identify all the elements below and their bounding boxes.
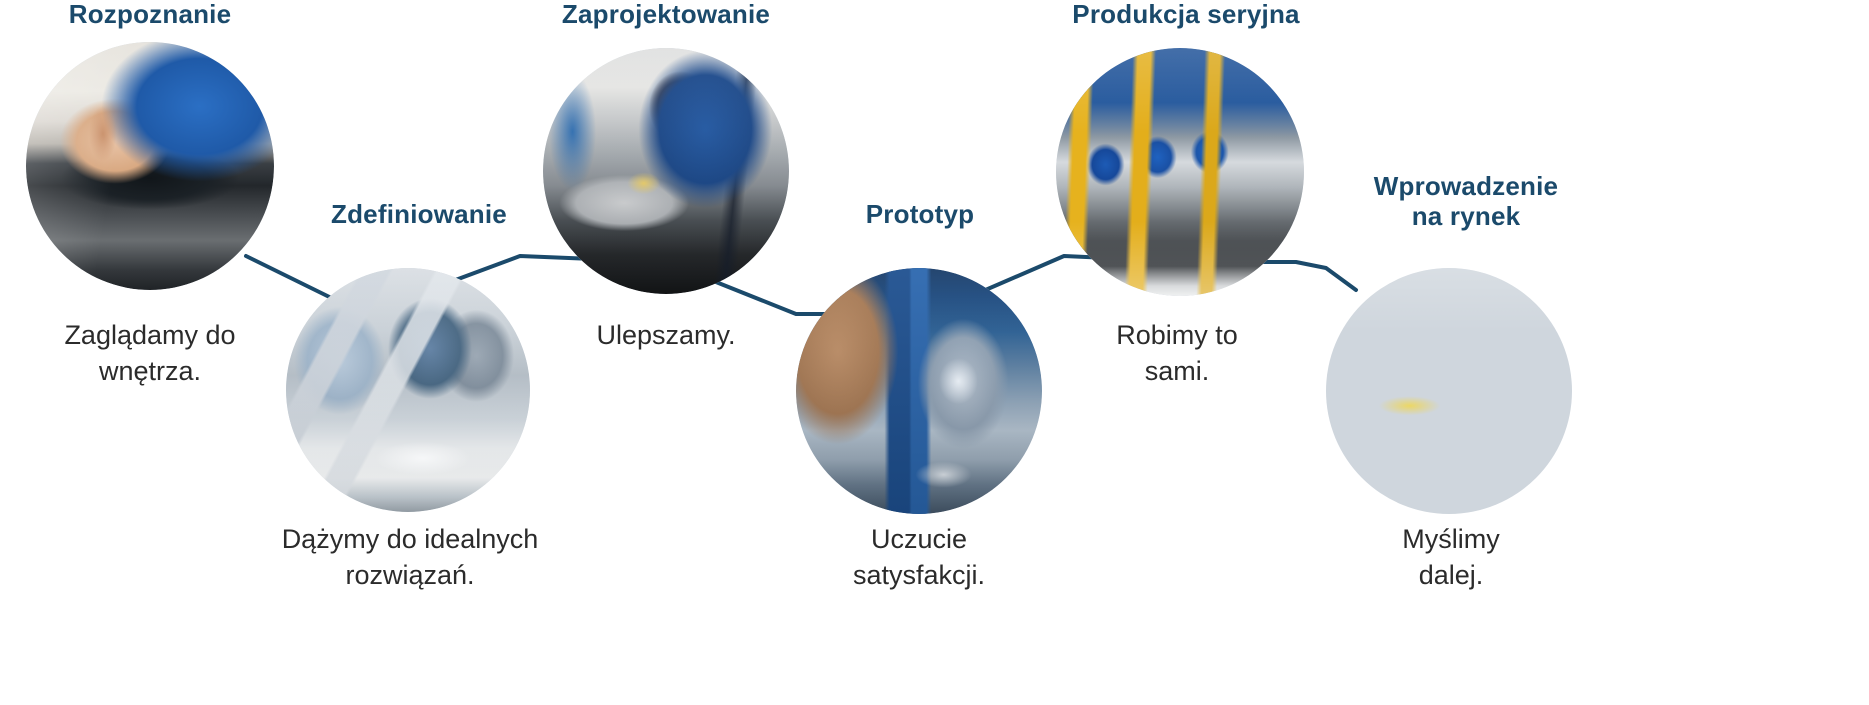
team-reviewing-blueprints-photo bbox=[286, 268, 530, 512]
step-caption-prototyp: Uczucie satysfakcji. bbox=[784, 522, 1054, 594]
step-title-zdefiniowanie: Zdefiniowanie bbox=[275, 200, 563, 230]
step-image-rozpoznanie[interactable] bbox=[26, 42, 274, 290]
cad-workstation-prototype-photo bbox=[796, 268, 1042, 514]
step-title-zaprojektowanie: Zaprojektowanie bbox=[520, 0, 812, 30]
shock-absorber-production-line-photo bbox=[1056, 48, 1304, 296]
step-image-zdefiniowanie[interactable] bbox=[286, 268, 530, 512]
step-image-produkcja-seryjna[interactable] bbox=[1056, 48, 1304, 296]
mechanic-inspecting-car-photo bbox=[26, 42, 274, 290]
step-caption-produkcja-seryjna: Robimy to sami. bbox=[1040, 318, 1314, 390]
step-image-prototyp[interactable] bbox=[796, 268, 1042, 514]
step-caption-zdefiniowanie: Dążymy do idealnych rozwiązań. bbox=[240, 522, 580, 594]
step-caption-zaprojektowanie: Ulepszamy. bbox=[522, 318, 810, 354]
process-infographic: Rozpoznanie Zaglądamy do wnętrza. Zdefin… bbox=[0, 0, 1869, 705]
step-caption-wprowadzenie-na-rynek: Myślimy dalej. bbox=[1320, 522, 1582, 594]
step-title-wprowadzenie-na-rynek: Wprowadzenie na rynek bbox=[1320, 172, 1612, 231]
hand-applying-product-label-photo bbox=[1326, 268, 1572, 514]
step-title-produkcja-seryjna: Produkcja seryjna bbox=[1040, 0, 1332, 30]
step-caption-rozpoznanie: Zaglądamy do wnętrza. bbox=[6, 318, 294, 390]
step-image-wprowadzenie-na-rynek[interactable] bbox=[1326, 268, 1572, 514]
step-title-prototyp: Prototyp bbox=[800, 200, 1040, 230]
step-title-rozpoznanie: Rozpoznanie bbox=[4, 0, 296, 30]
mechanic-with-laptop-photo bbox=[543, 48, 789, 294]
step-image-zaprojektowanie[interactable] bbox=[543, 48, 789, 294]
